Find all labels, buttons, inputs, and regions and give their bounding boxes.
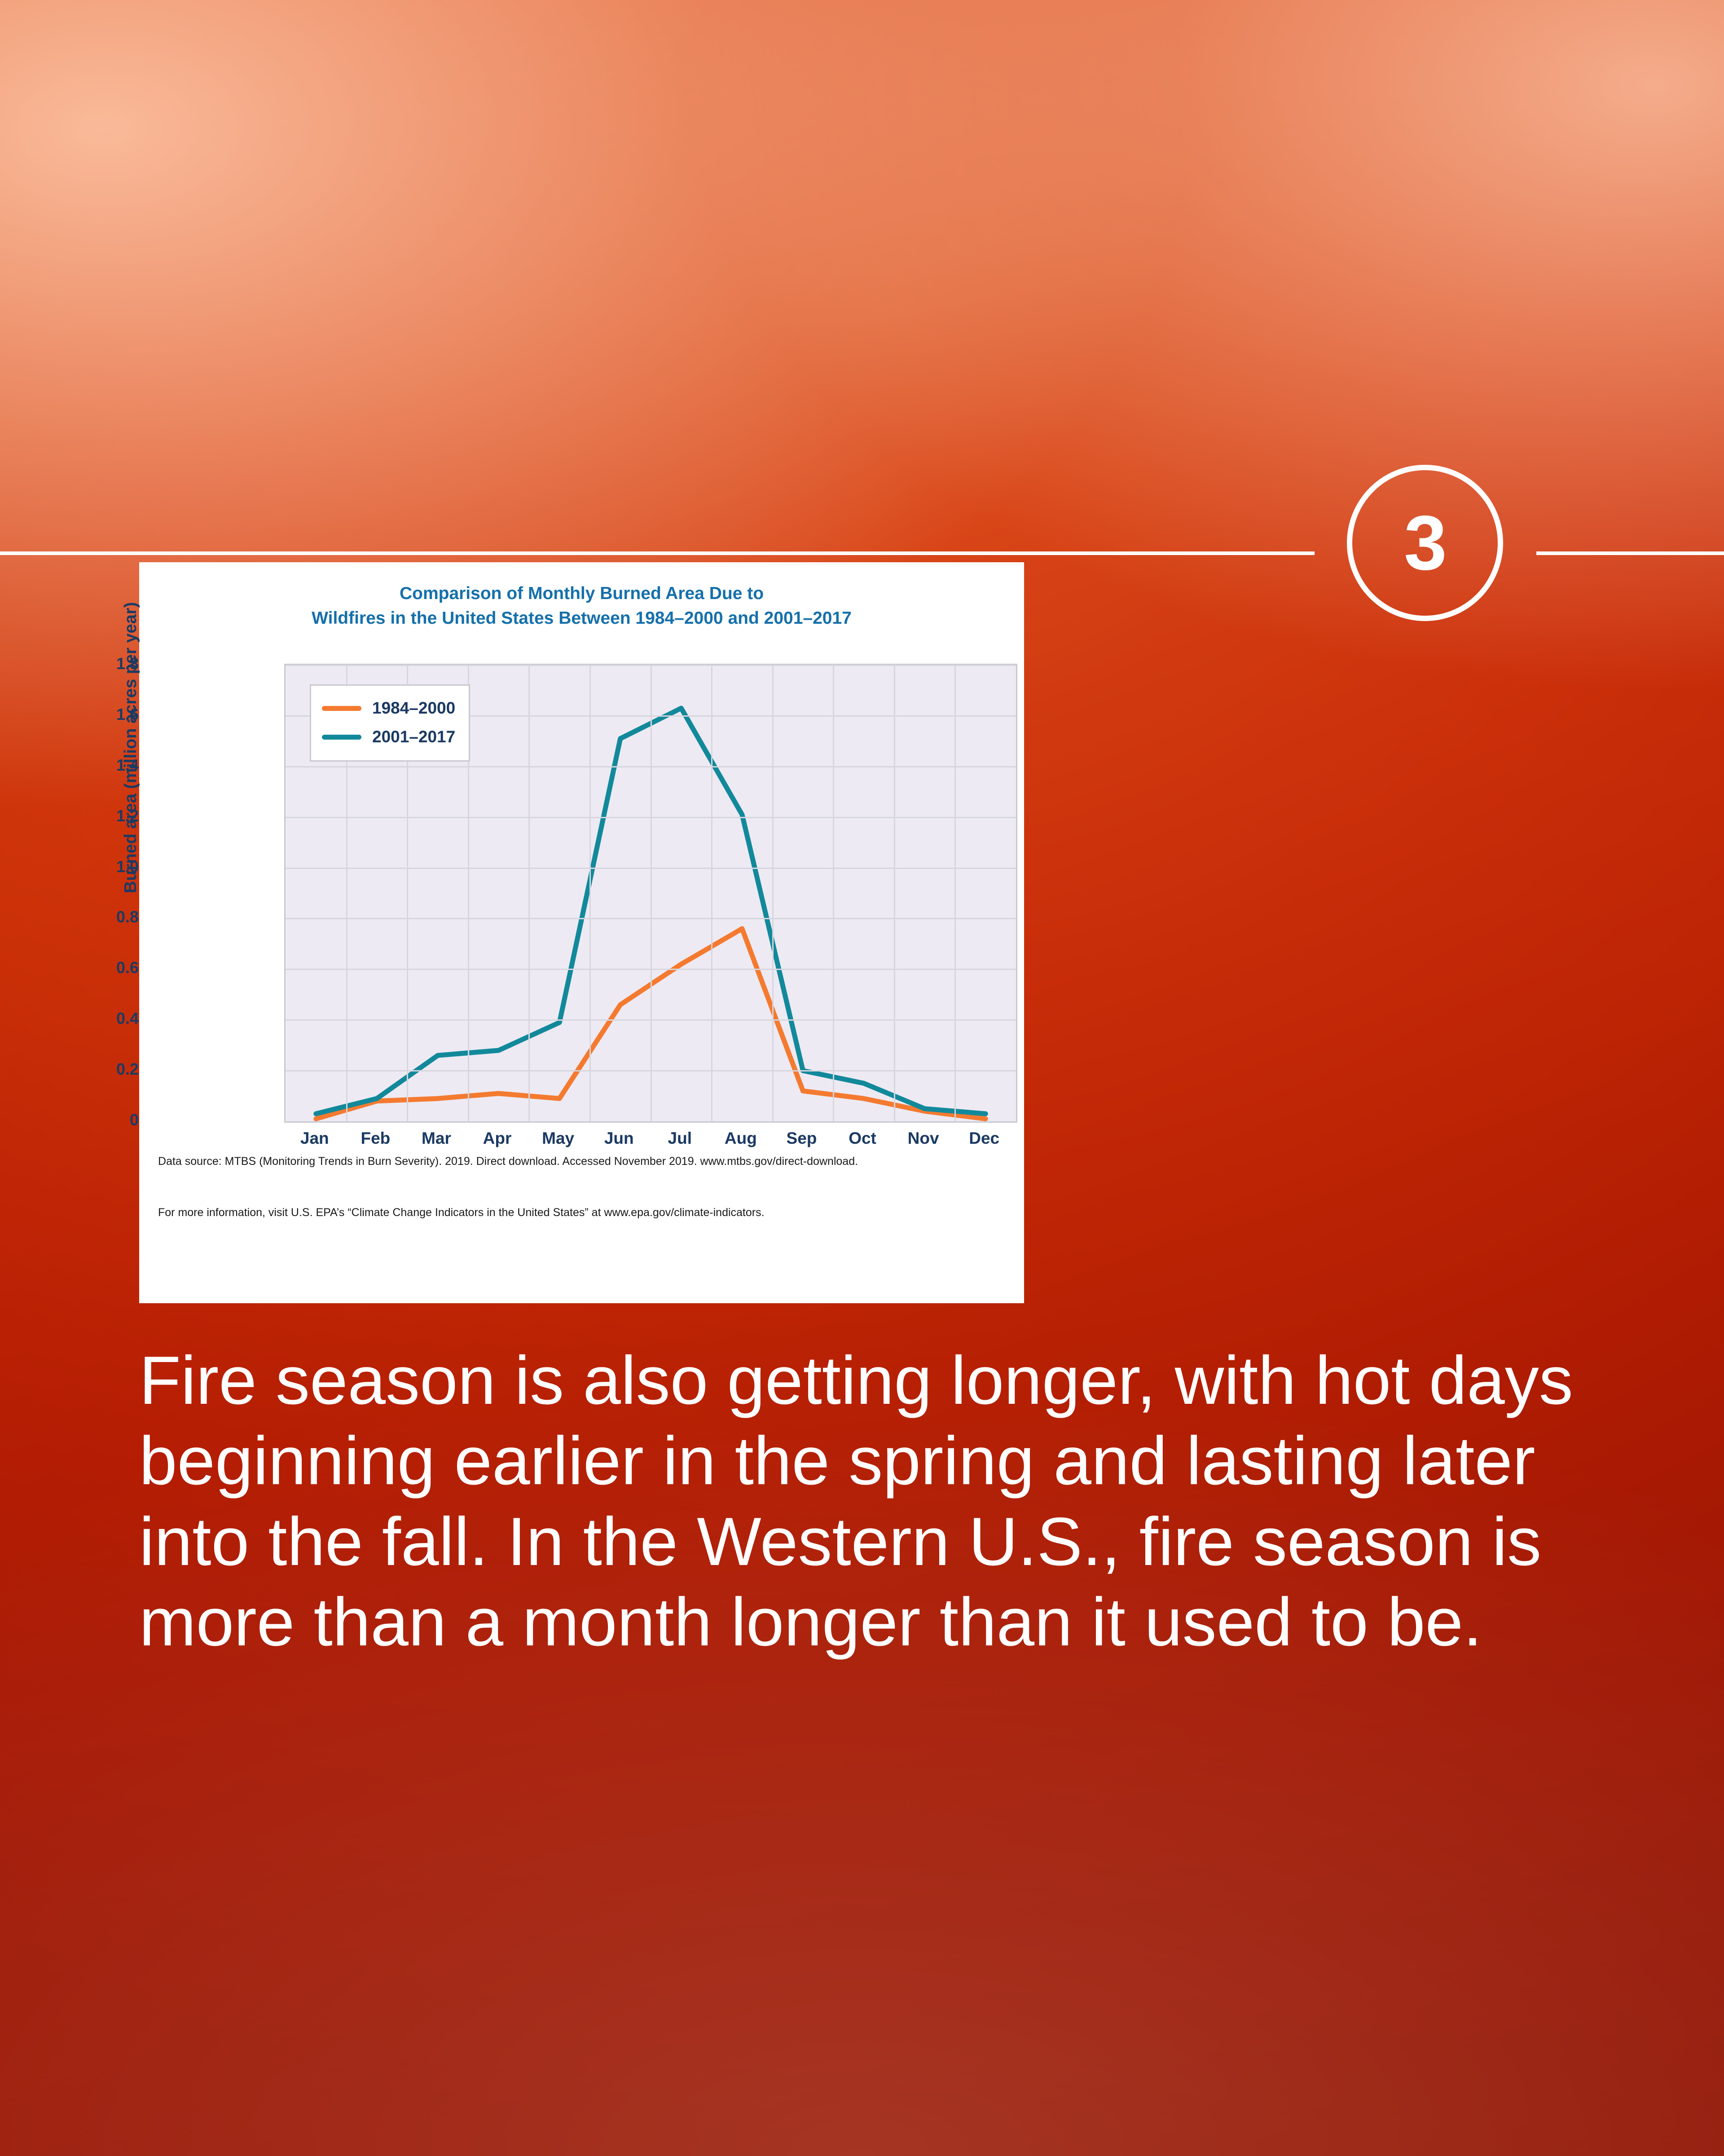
legend-label-series-0: 1984–2000 bbox=[372, 699, 455, 718]
y-axis-tick-label: 0.8 bbox=[49, 908, 139, 926]
gridline-vertical bbox=[954, 665, 956, 1121]
step-number-badge: 3 bbox=[1347, 465, 1503, 621]
gridline-vertical bbox=[528, 665, 530, 1121]
legend-swatch-series-1 bbox=[322, 735, 361, 740]
y-axis-tick-label: 1.4 bbox=[49, 756, 139, 775]
legend-item-1: 2001–2017 bbox=[322, 723, 455, 751]
gridline-vertical bbox=[711, 665, 712, 1121]
y-axis-tick-label: 1.8 bbox=[49, 654, 139, 673]
chart-title-line-2: Wildfires in the United States Between 1… bbox=[139, 606, 1024, 630]
body-paragraph: Fire season is also getting longer, with… bbox=[139, 1340, 1612, 1662]
y-axis-tick-label: 0 bbox=[49, 1111, 139, 1129]
more-information-note: For more information, visit U.S. EPA’s “… bbox=[158, 1204, 1002, 1221]
chart-title: Comparison of Monthly Burned Area Due to… bbox=[139, 581, 1024, 631]
divider-line-left bbox=[0, 551, 1315, 555]
y-axis-title: Burned area (million acres per year) bbox=[121, 602, 141, 893]
gridline-vertical bbox=[651, 665, 652, 1121]
y-axis-tick-label: 0.4 bbox=[49, 1009, 139, 1028]
divider-line-right bbox=[1536, 551, 1724, 555]
y-axis-tick-label: 1.6 bbox=[49, 705, 139, 724]
y-axis-tick-label: 0.2 bbox=[49, 1060, 139, 1079]
data-source-note: Data source: MTBS (Monitoring Trends in … bbox=[158, 1153, 1002, 1170]
x-axis-tick-label: Dec bbox=[948, 1129, 1020, 1148]
y-axis-tick-label: 1.0 bbox=[49, 857, 139, 876]
y-axis-tick-label: 0.6 bbox=[49, 958, 139, 977]
gridline-vertical bbox=[894, 665, 895, 1121]
y-axis-tick-label: 1.2 bbox=[49, 807, 139, 825]
legend-swatch-series-0 bbox=[322, 706, 361, 711]
step-number-label: 3 bbox=[1404, 504, 1446, 582]
chart-title-line-1: Comparison of Monthly Burned Area Due to bbox=[139, 581, 1024, 606]
chart-card: Comparison of Monthly Burned Area Due to… bbox=[139, 562, 1024, 1303]
legend-label-series-1: 2001–2017 bbox=[372, 727, 455, 746]
chart-legend: 1984–2000 2001–2017 bbox=[310, 684, 470, 762]
gridline-vertical bbox=[589, 665, 591, 1121]
gridline-vertical bbox=[772, 665, 774, 1121]
legend-item-0: 1984–2000 bbox=[322, 694, 455, 723]
gridline-vertical bbox=[833, 665, 834, 1121]
